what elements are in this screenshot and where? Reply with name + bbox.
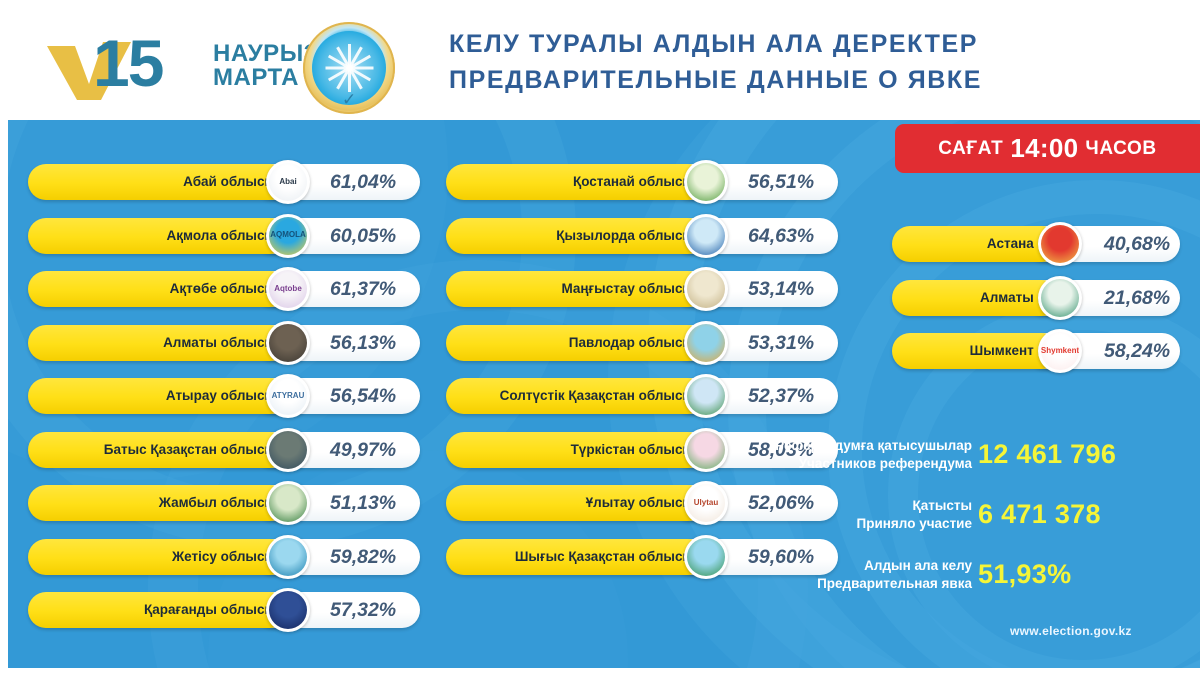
logo-15-march: 15 НАУРЫЗ МАРТА — [45, 26, 255, 102]
turnout-percent: 57,32% — [330, 592, 396, 628]
turnout-percent: 59,82% — [330, 539, 396, 575]
footer-website: www.election.gov.kz — [1010, 624, 1132, 638]
mangystau-region-emblem — [684, 267, 728, 311]
turnout-percent: 56,13% — [330, 325, 396, 361]
time-banner-value: 14:00 — [1010, 133, 1078, 164]
cec-kazakhstan-emblem: ✓ — [303, 22, 395, 114]
turnout-percent: 21,68% — [1104, 280, 1170, 316]
turnout-percent: 61,04% — [330, 164, 396, 200]
time-banner-prefix: САҒАТ — [938, 138, 1003, 160]
summary-stat: ҚатыстыПриняло участие6 471 378 — [760, 497, 1160, 549]
kostanay-region-emblem — [684, 160, 728, 204]
emblem-graphic — [1041, 225, 1079, 263]
region-row[interactable]: Солтүстік Қазақстан облысы52,37% — [446, 378, 838, 414]
aqmola-region-emblem: AQMOLA — [266, 214, 310, 258]
emblem-graphic — [687, 431, 725, 469]
astana-city-emblem — [1038, 222, 1082, 266]
abai-region-emblem: Abai — [266, 160, 310, 204]
region-name: Шымкент қ. — [900, 333, 1048, 369]
karagandy-region-emblem — [266, 588, 310, 632]
summary-stat: Алдын ала келуПредварительная явка51,93% — [760, 557, 1160, 609]
summary-stat-label: ҚатыстыПриняло участие — [857, 497, 972, 533]
region-row[interactable]: Маңғыстау облысы53,14% — [446, 271, 838, 307]
region-name: Астана қ. — [900, 226, 1048, 262]
emblem-graphic — [687, 270, 725, 308]
region-name: Ақмола облысы — [36, 218, 276, 254]
turnout-percent: 52,37% — [748, 378, 814, 414]
turnout-percent: 56,54% — [330, 378, 396, 414]
summary-stat: Референдумға қатысушыларУчастников рефер… — [760, 437, 1160, 489]
region-name: Батыс Қазақстан облысы — [36, 432, 276, 468]
region-name: Солтүстік Қазақстан облысы — [454, 378, 694, 414]
turnout-percent: 53,14% — [748, 271, 814, 307]
summary-stat-label-ru: Предварительная явка — [817, 575, 972, 593]
page-title: КЕЛУ ТУРАЛЫ АЛДЫН АЛА ДЕРЕКТЕР ПРЕДВАРИТ… — [449, 27, 1069, 98]
emblem-check-icon: ✓ — [342, 91, 356, 108]
region-row[interactable]: Батыс Қазақстан облысы49,97% — [28, 432, 420, 468]
time-banner: САҒАТ 14:00 ЧАСОВ — [895, 124, 1200, 173]
region-name: Қарағанды облысы — [36, 592, 276, 628]
west-kazakhstan-region-emblem — [266, 428, 310, 472]
logo-day-number: 15 — [93, 30, 162, 96]
summary-stat-label-kk: Қатысты — [857, 497, 972, 515]
emblem-graphic — [1041, 279, 1079, 317]
turnout-percent: 58,24% — [1104, 333, 1170, 369]
infographic-root: 15 НАУРЫЗ МАРТА ✓ КЕЛУ ТУРАЛЫ АЛДЫН АЛА … — [0, 0, 1200, 675]
turnout-percent: 64,63% — [748, 218, 814, 254]
emblem-graphic: Abai — [269, 163, 307, 201]
emblem-graphic — [269, 431, 307, 469]
emblem-graphic — [687, 217, 725, 255]
region-name: Алматы қ. — [900, 280, 1048, 316]
emblem-graphic: Aqtobe — [269, 270, 307, 308]
emblem-graphic — [269, 324, 307, 362]
title-line-kk: КЕЛУ ТУРАЛЫ АЛДЫН АЛА ДЕРЕКТЕР — [449, 27, 1069, 63]
summary-stat-label-ru: Участников референдума — [775, 455, 972, 473]
emblem-graphic: Ulytau — [687, 484, 725, 522]
almaty-city-emblem — [1038, 276, 1082, 320]
region-row[interactable]: Алматы облысы56,13% — [28, 325, 420, 361]
summary-stat-label-kk: Алдын ала келу — [817, 557, 972, 575]
kyzylorda-region-emblem — [684, 214, 728, 258]
region-row[interactable]: Жетісу облысы59,82% — [28, 539, 420, 575]
emblem-graphic — [269, 484, 307, 522]
region-name: Атырау облысы — [36, 378, 276, 414]
region-row[interactable]: Жамбыл облысы51,13% — [28, 485, 420, 521]
turnout-percent: 56,51% — [748, 164, 814, 200]
region-row[interactable]: Қызылорда облысы64,63% — [446, 218, 838, 254]
region-row[interactable]: Алматы қ.21,68% — [892, 280, 1180, 316]
region-name: Маңғыстау облысы — [454, 271, 694, 307]
turnout-percent: 60,05% — [330, 218, 396, 254]
emblem-graphic — [687, 538, 725, 576]
region-name: Абай облысы — [36, 164, 276, 200]
summary-stat-label: Алдын ала келуПредварительная явка — [817, 557, 972, 593]
region-name: Қостанай облысы — [454, 164, 694, 200]
turnout-percent: 51,13% — [330, 485, 396, 521]
region-row[interactable]: Шымкент қ.Shymkent58,24% — [892, 333, 1180, 369]
summary-stat-label: Референдумға қатысушыларУчастников рефер… — [775, 437, 972, 473]
summary-stat-label-kk: Референдумға қатысушылар — [775, 437, 972, 455]
emblem-graphic: Shymkent — [1041, 332, 1079, 370]
region-row[interactable]: Астана қ.40,68% — [892, 226, 1180, 262]
shymkent-city-emblem: Shymkent — [1038, 329, 1082, 373]
ulytau-region-emblem: Ulytau — [684, 481, 728, 525]
atyrau-region-emblem: ATYRAU — [266, 374, 310, 418]
summary-stat-value: 12 461 796 — [978, 439, 1116, 470]
turnout-percent: 61,37% — [330, 271, 396, 307]
region-row[interactable]: Абай облысыAbai61,04% — [28, 164, 420, 200]
region-name: Жамбыл облысы — [36, 485, 276, 521]
region-row[interactable]: Ақтөбе облысыAqtobe61,37% — [28, 271, 420, 307]
title-line-ru: ПРЕДВАРИТЕЛЬНЫЕ ДАННЫЕ О ЯВКЕ — [449, 63, 1069, 99]
emblem-star-icon — [325, 44, 373, 92]
pavlodar-region-emblem — [684, 321, 728, 365]
zhetysu-region-emblem — [266, 535, 310, 579]
region-name: Павлодар облысы — [454, 325, 694, 361]
emblem-graphic — [687, 163, 725, 201]
summary-stat-value: 6 471 378 — [978, 499, 1101, 530]
zhambyl-region-emblem — [266, 481, 310, 525]
aqtobe-region-emblem: Aqtobe — [266, 267, 310, 311]
region-name: Шығыс Қазақстан облысы — [454, 539, 694, 575]
east-kazakhstan-region-emblem — [684, 535, 728, 579]
emblem-graphic — [687, 377, 725, 415]
region-name: Қызылорда облысы — [454, 218, 694, 254]
region-name: Жетісу облысы — [36, 539, 276, 575]
time-banner-suffix: ЧАСОВ — [1085, 138, 1156, 160]
region-row[interactable]: Қостанай облысы56,51% — [446, 164, 838, 200]
region-row[interactable]: Ақмола облысыAQMOLA60,05% — [28, 218, 420, 254]
region-row[interactable]: Атырау облысыATYRAU56,54% — [28, 378, 420, 414]
emblem-graphic — [269, 591, 307, 629]
summary-stats: Референдумға қатысушыларУчастников рефер… — [760, 437, 1160, 617]
emblem-graphic: AQMOLA — [269, 217, 307, 255]
turkistan-region-emblem — [684, 428, 728, 472]
turnout-percent: 49,97% — [330, 432, 396, 468]
region-name: Ұлытау облысы — [454, 485, 694, 521]
region-name: Түркістан облысы — [454, 432, 694, 468]
almaty-region-emblem — [266, 321, 310, 365]
region-row[interactable]: Қарағанды облысы57,32% — [28, 592, 420, 628]
emblem-graphic — [269, 538, 307, 576]
turnout-percent: 40,68% — [1104, 226, 1170, 262]
north-kazakhstan-region-emblem — [684, 374, 728, 418]
region-row[interactable]: Павлодар облысы53,31% — [446, 325, 838, 361]
header: 15 НАУРЫЗ МАРТА ✓ КЕЛУ ТУРАЛЫ АЛДЫН АЛА … — [0, 0, 1200, 120]
summary-stat-label-ru: Приняло участие — [857, 515, 972, 533]
emblem-graphic — [687, 324, 725, 362]
turnout-percent: 53,31% — [748, 325, 814, 361]
emblem-graphic: ATYRAU — [269, 377, 307, 415]
region-name: Алматы облысы — [36, 325, 276, 361]
summary-stat-value: 51,93% — [978, 559, 1071, 590]
region-name: Ақтөбе облысы — [36, 271, 276, 307]
